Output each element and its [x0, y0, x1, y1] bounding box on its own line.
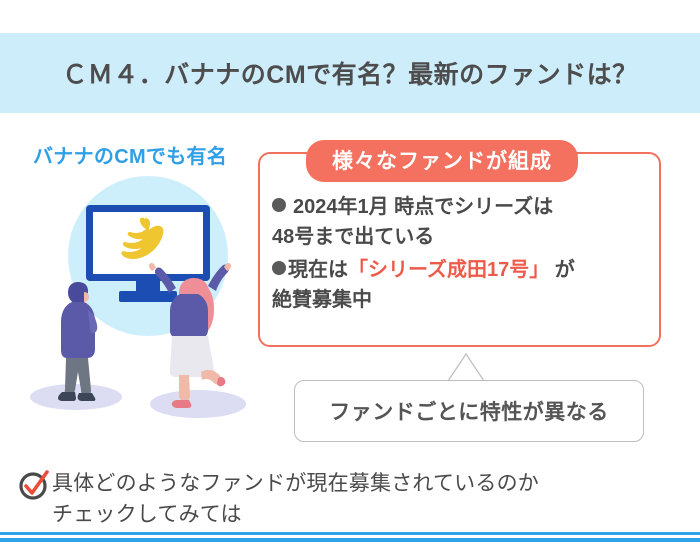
- fact-item-2-post: が: [549, 259, 575, 281]
- person-man-figure: [50, 274, 122, 404]
- bottom-note: 具体どのようなファンドが現在募集されているのか チェックしてみては: [18, 468, 682, 530]
- fact-list-item-2: 現在は「シリーズ成田17号」 が 絶賛募集中: [272, 255, 652, 316]
- fact-box-badge: 様々なファンドが組成: [306, 140, 578, 182]
- person-woman-figure: [146, 260, 256, 412]
- circle-check-icon: [18, 469, 50, 501]
- footer-rule-top: [0, 532, 700, 535]
- bottom-note-line1: 具体どのようなファンドが現在募集されているのか: [52, 472, 539, 495]
- fact-item-2-line2: 絶賛募集中: [272, 289, 372, 311]
- footer-rule-bottom: [0, 538, 700, 542]
- page-title: ＣＭ４．バナナのCMで有名？最新のファンドは？: [62, 55, 637, 91]
- illustration: [28, 168, 258, 458]
- bullet-dot-icon: [272, 198, 286, 212]
- fact-item-2-highlight: 「シリーズ成田17号」: [348, 259, 549, 281]
- fact-item-1-line2: 48号まで出ている: [272, 226, 434, 248]
- left-caption: バナナのCMでも有名: [33, 140, 227, 169]
- bottom-note-text: 具体どのようなファンドが現在募集されているのか チェックしてみては: [52, 468, 539, 530]
- fact-list: 2024年1月 時点でシリーズは 48号まで出ている 現在は「シリーズ成田17号…: [272, 192, 652, 318]
- speech-bubble-text: ファンドごとに特性が異なる: [329, 396, 609, 426]
- bottom-note-line2: チェックしてみては: [52, 503, 242, 526]
- fact-list-item-1: 2024年1月 時点でシリーズは 48号まで出ている: [272, 192, 652, 253]
- bullet-dot-icon: [272, 261, 286, 275]
- speech-bubble-tail: [446, 352, 486, 382]
- infographic-page: ＣＭ４．バナナのCMで有名？最新のファンドは？ バナナのCMでも有名: [0, 0, 700, 560]
- header-band: ＣＭ４．バナナのCMで有名？最新のファンドは？: [0, 33, 700, 113]
- fact-item-2-pre: 現在は: [288, 259, 348, 281]
- speech-bubble: ファンドごとに特性が異なる: [294, 380, 644, 442]
- fact-item-1-line1: 2024年1月 時点でシリーズは: [293, 196, 553, 218]
